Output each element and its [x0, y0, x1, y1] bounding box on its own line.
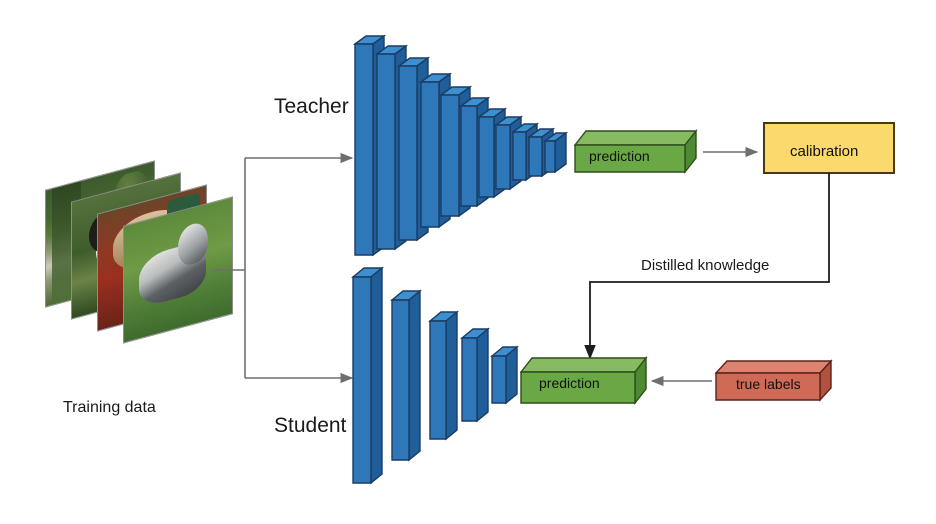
calibration-label: calibration	[790, 144, 858, 159]
diagram-vector-layer	[0, 0, 936, 524]
teacher-network-layers	[355, 36, 566, 255]
training-data-label: Training data	[63, 400, 156, 416]
diagram-canvas: Teacher Student Training data Distilled …	[0, 0, 936, 524]
student-prediction-label: prediction	[539, 376, 600, 390]
teacher-prediction-label: prediction	[589, 149, 650, 163]
student-label: Student	[274, 415, 346, 436]
teacher-label: Teacher	[274, 96, 349, 117]
teacher-layer-11	[545, 133, 566, 172]
true-labels-label: true labels	[736, 377, 801, 391]
student-layer-2	[392, 291, 420, 460]
student-layer-3	[430, 312, 457, 439]
student-layer-5	[492, 347, 517, 403]
student-network-layers	[353, 268, 517, 483]
student-layer-1	[353, 268, 382, 483]
distilled-knowledge-label: Distilled knowledge	[641, 258, 769, 273]
edge-training-to-networks	[212, 158, 352, 378]
student-layer-4	[462, 329, 488, 421]
